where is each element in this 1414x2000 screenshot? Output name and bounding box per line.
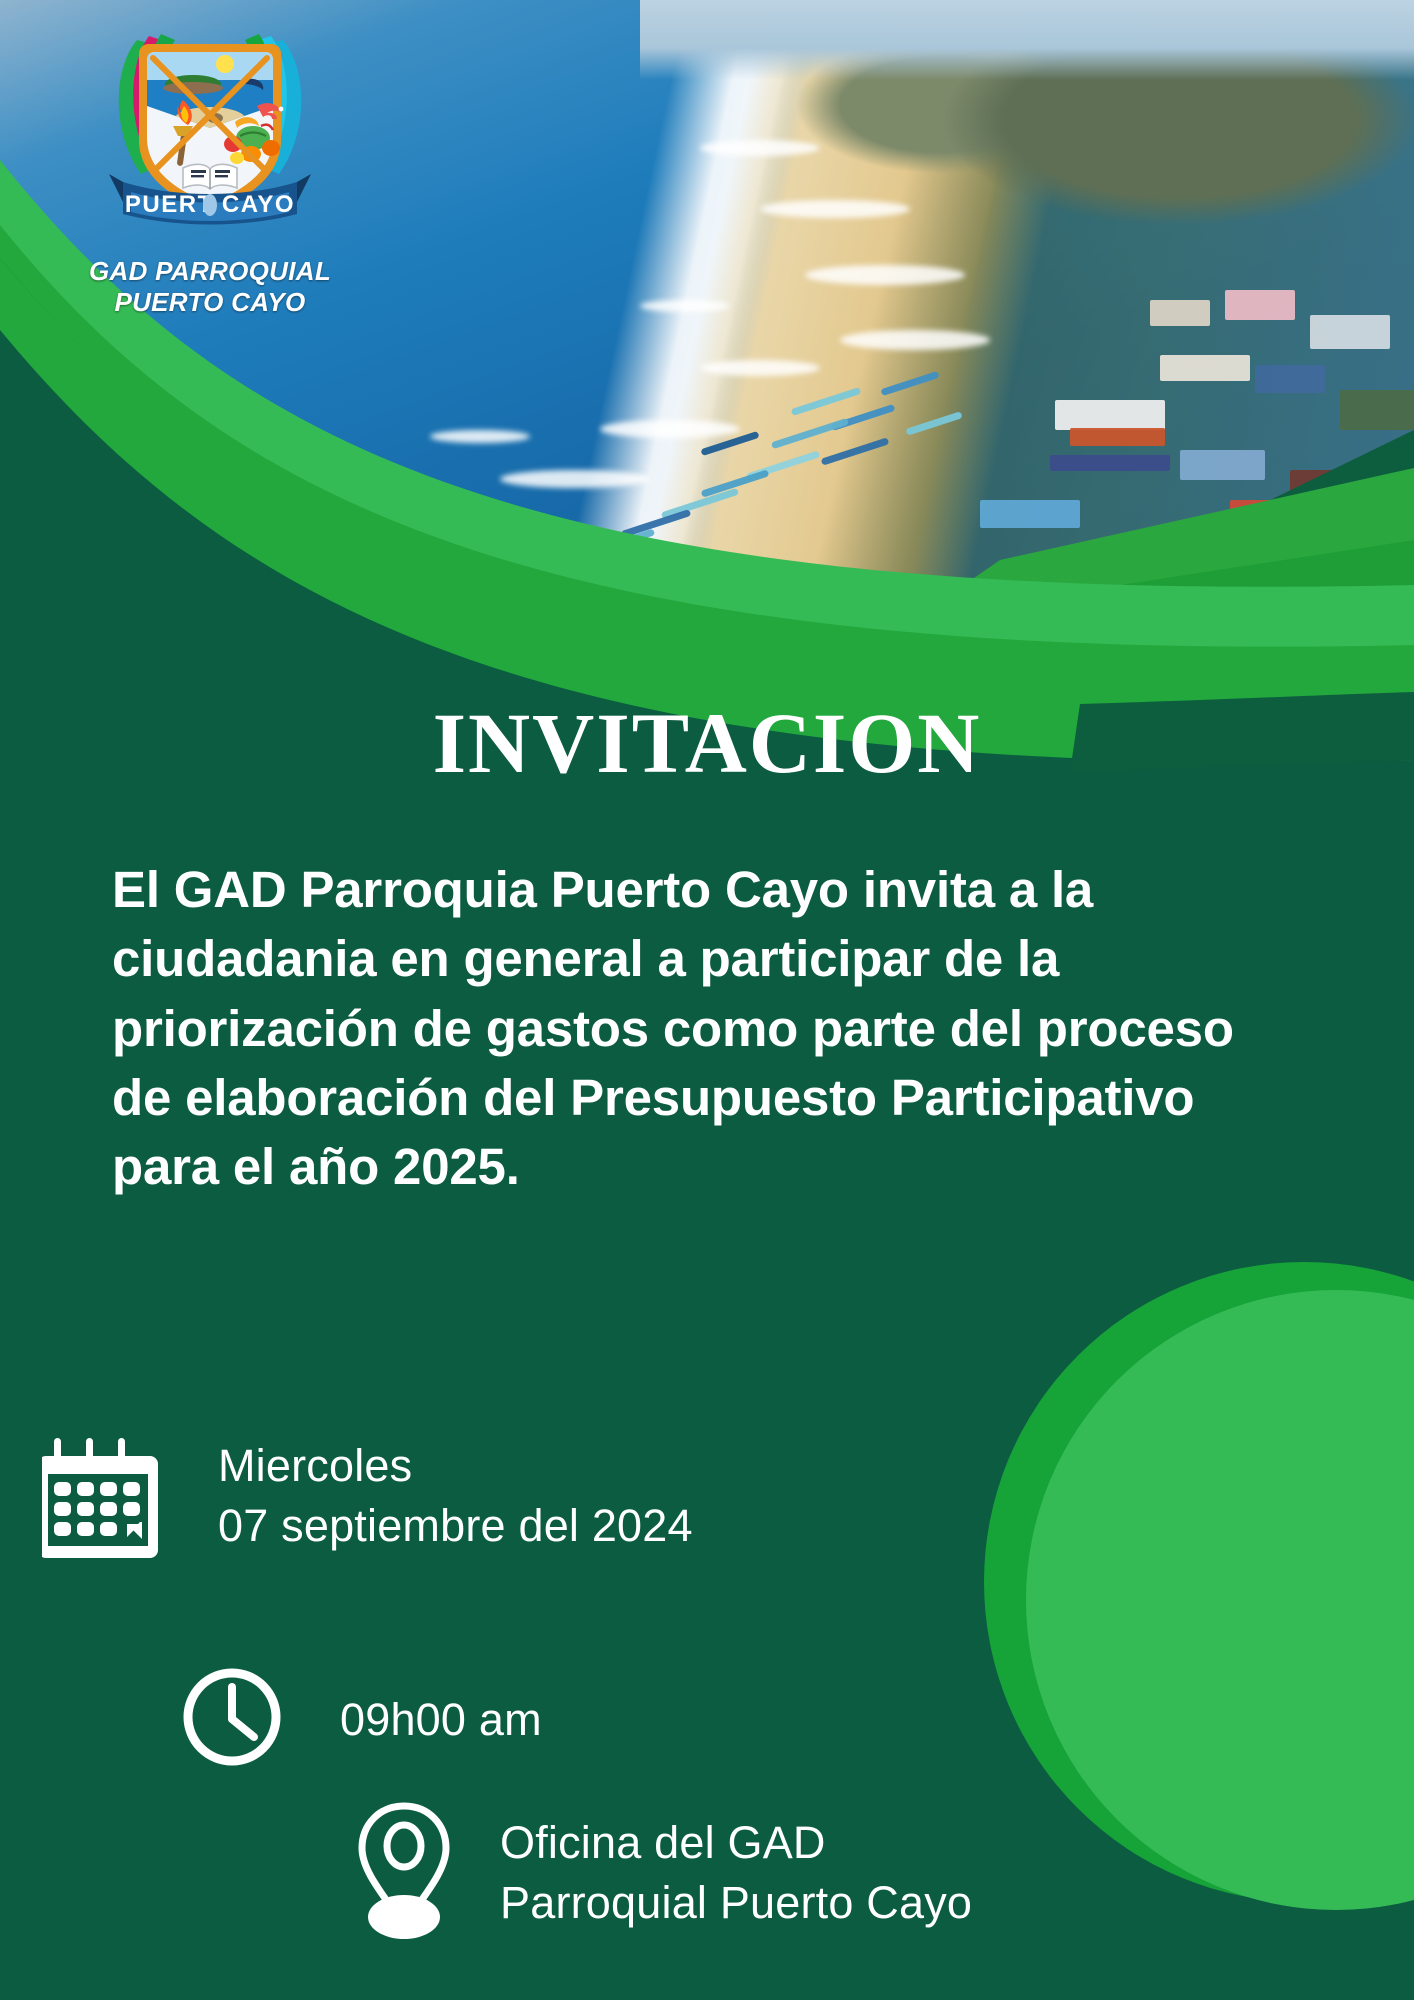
- calendar-icon: [42, 1428, 170, 1563]
- page-title: INVITACION: [0, 700, 1414, 786]
- organization-name-line1: GAD PARROQUIAL: [55, 256, 365, 287]
- event-location-text: Oficina del GAD Parroquial Puerto Cayo: [500, 1813, 972, 1932]
- location-pin-icon: [352, 1800, 456, 1945]
- event-date-text: Miercoles 07 septiembre del 2024: [218, 1436, 693, 1555]
- coat-of-arms-crest-icon: PUERT CAYO: [75, 22, 345, 252]
- organization-logo-block: PUERT CAYO GAD PARROQUIAL PUERTO CAYO: [55, 22, 365, 317]
- invitation-body-text: El GAD Parroquia Puerto Cayo invita a la…: [112, 855, 1262, 1202]
- organization-name: GAD PARROQUIAL PUERTO CAYO: [55, 256, 365, 317]
- event-time-row: 09h00 am: [180, 1665, 542, 1774]
- invitation-poster: PUERT CAYO GAD PARROQUIAL PUERTO CAYO IN…: [0, 0, 1414, 2000]
- event-location-row: Oficina del GAD Parroquial Puerto Cayo: [352, 1800, 972, 1945]
- clock-icon: [180, 1665, 284, 1774]
- event-date-row: Miercoles 07 septiembre del 2024: [42, 1428, 693, 1563]
- event-time-text: 09h00 am: [340, 1690, 542, 1749]
- organization-name-line2: PUERTO CAYO: [55, 287, 365, 318]
- sky-haze: [640, 0, 1414, 80]
